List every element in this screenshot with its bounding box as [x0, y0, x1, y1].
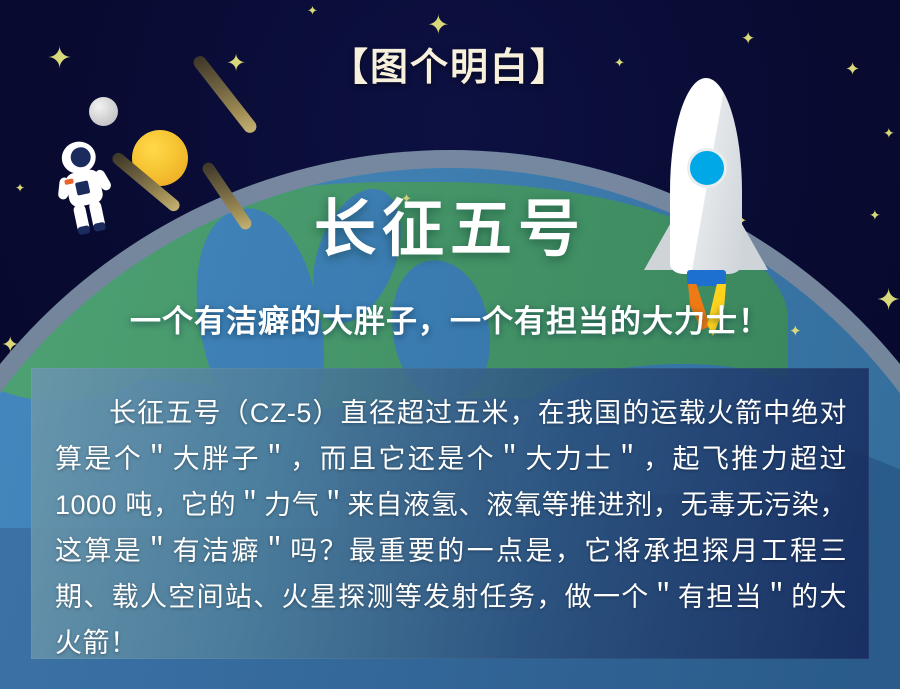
star-icon: ✦ [427, 12, 450, 39]
infographic-poster: ✦ ✦ ✦ ✦ ✦ ✦ ✦ ✦ ✦ ✦ ✦ ✦ ✦ ✦ ✦ [0, 0, 900, 689]
page-kicker: 【图个明白】 [0, 36, 900, 91]
star-icon: ✦ [307, 4, 318, 17]
page-subtitle: 一个有洁癖的大胖子，一个有担当的大力士！ [0, 296, 900, 341]
moon-icon [89, 97, 118, 126]
body-paragraph: 长征五号（CZ-5）直径超过五米，在我国的运载火箭中绝对算是个＂大胖子＂，而且它… [55, 390, 847, 666]
page-title: 长征五号 [0, 178, 900, 268]
body-text-panel: 长征五号（CZ-5）直径超过五米，在我国的运载火箭中绝对算是个＂大胖子＂，而且它… [31, 368, 869, 659]
star-icon: ✦ [883, 126, 895, 140]
